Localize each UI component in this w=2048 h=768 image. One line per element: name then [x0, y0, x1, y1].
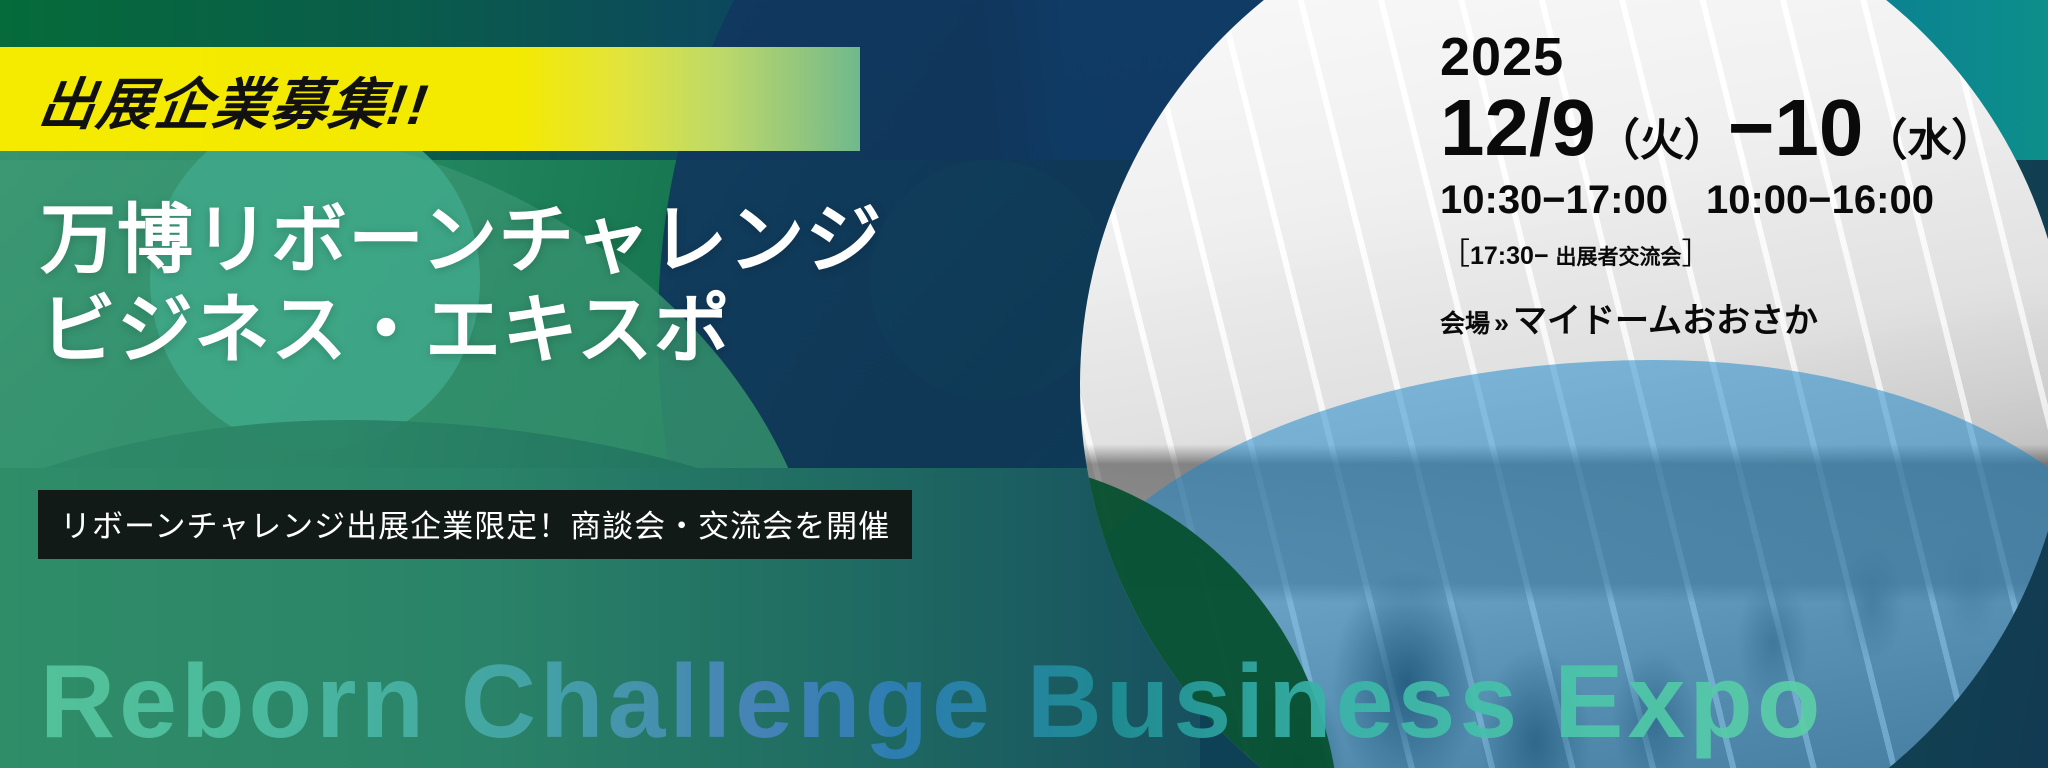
title-line-2: ビジネス・エキスポ — [40, 286, 882, 376]
event-dow-second: （水） — [1863, 116, 1995, 165]
call-for-exhibitors-label: 出展企業募集!! — [34, 60, 435, 141]
event-dow-first: （火） — [1596, 116, 1728, 165]
networking-note: ［17:30− 出展者交流会］ — [1440, 229, 1995, 273]
schedule-block: 2025 12/9（火）−10（水） 10:30−17:0010:00−16:0… — [1440, 30, 1995, 342]
event-hours-day1: 10:30−17:00 — [1440, 178, 1668, 222]
venue-label: 会場 — [1440, 310, 1490, 338]
venue-line: 会場»マイドームおおさか — [1440, 293, 1995, 342]
event-date-first: 12/9 — [1440, 83, 1596, 172]
event-year: 2025 — [1440, 30, 1995, 84]
event-hours: 10:30−17:0010:00−16:00 — [1440, 178, 1995, 223]
event-hours-day2: 10:00−16:00 — [1706, 178, 1934, 222]
event-dates: 12/9（火）−10（水） — [1440, 86, 1995, 170]
page-title: 万博リボーンチャレンジ ビジネス・エキスポ — [40, 196, 882, 375]
networking-time: 17:30− — [1470, 242, 1549, 270]
title-line-1: 万博リボーンチャレンジ — [40, 196, 882, 286]
bracket-open-icon: ［ — [1440, 238, 1470, 271]
venue-name: マイドームおおさか — [1513, 302, 1818, 340]
event-date-second: 10 — [1774, 83, 1863, 172]
event-date-dash: − — [1728, 83, 1775, 172]
bracket-close-icon: ］ — [1682, 238, 1712, 271]
english-wordmark: Reborn Challenge Business Expo — [40, 643, 1824, 762]
subtitle-text: リボーンチャレンジ出展企業限定！商談会・交流会を開催 — [60, 501, 890, 546]
event-banner: 出展企業募集!! 万博リボーンチャレンジ ビジネス・エキスポ リボーンチャレンジ… — [0, 0, 2048, 768]
chevron-right-icon: » — [1494, 308, 1509, 338]
subtitle-bar: リボーンチャレンジ出展企業限定！商談会・交流会を開催 — [38, 490, 912, 559]
networking-label: 出展者交流会 — [1556, 246, 1682, 269]
